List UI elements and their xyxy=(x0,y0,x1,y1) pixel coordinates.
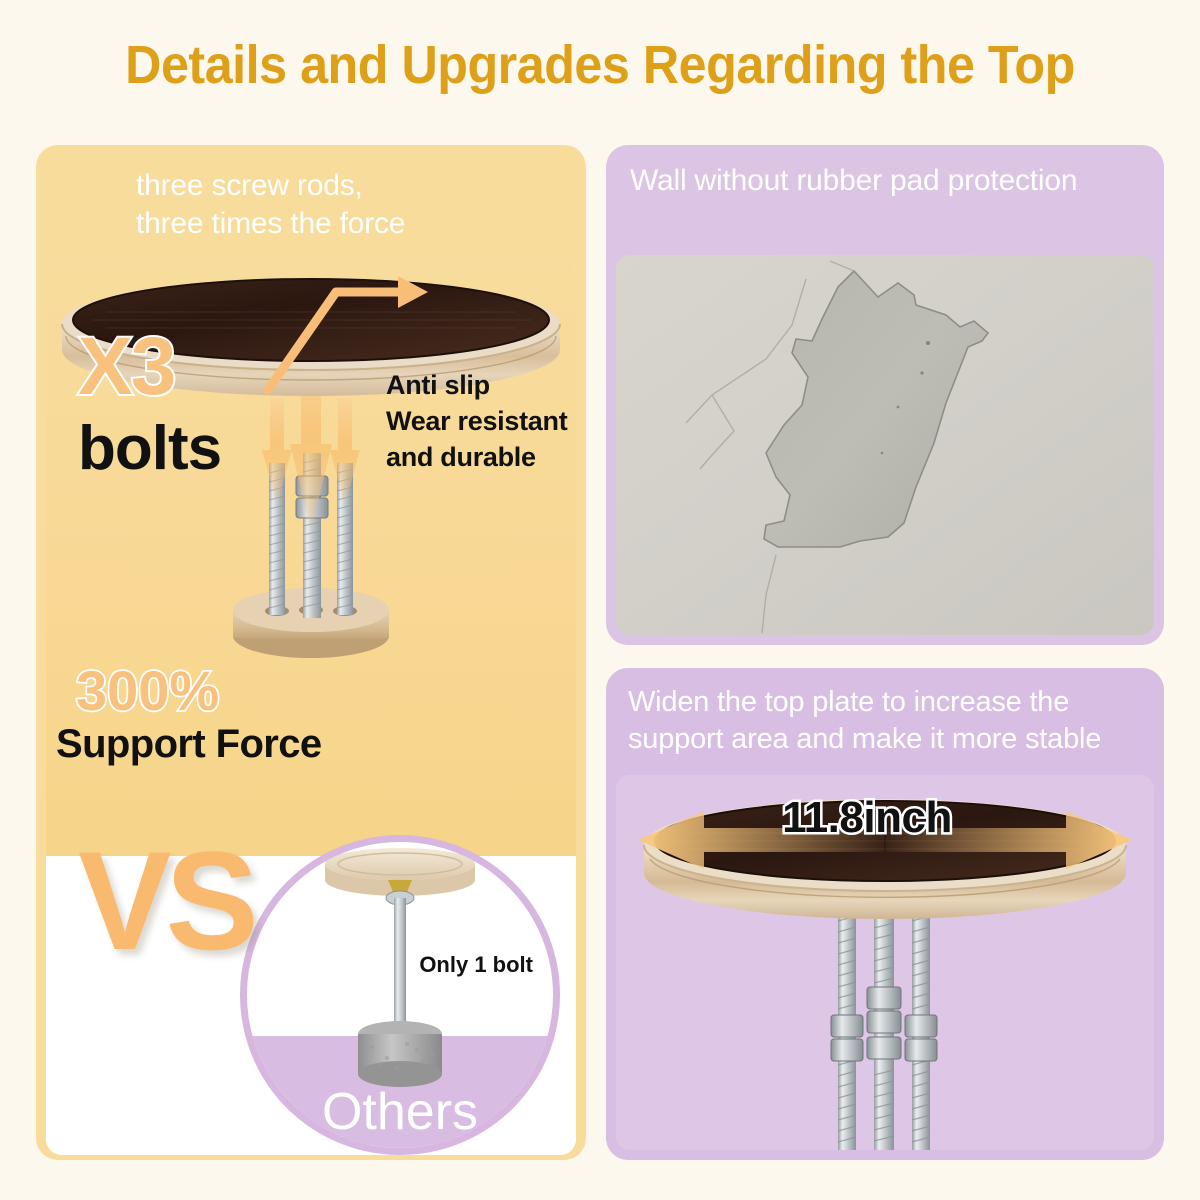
measurement-label: 11.8inch xyxy=(616,793,1118,843)
multiplier-noun-bolts: bolts xyxy=(78,413,221,484)
photo-wall-damage xyxy=(616,255,1154,635)
callout-anti-slip: Anti slip Wear resistant and durable xyxy=(386,368,567,476)
others-comparison-circle: Only 1 bolt Others xyxy=(240,835,560,1155)
force-percent: 300% xyxy=(76,658,219,723)
force-label: Support Force xyxy=(56,722,322,767)
page-title: Details and Upgrades Regarding the Top xyxy=(42,34,1158,96)
others-label: Others xyxy=(247,1082,553,1142)
only-one-bolt-note: Only 1 bolt xyxy=(419,952,533,978)
panel-wall-caption: Wall without rubber pad protection xyxy=(606,145,1164,200)
multiplier-x3: X3 xyxy=(78,320,174,414)
versus-mark: VS xyxy=(78,820,253,982)
panel-screws-caption: three screw rods, three times the force xyxy=(36,145,586,244)
panel-widen-caption: Widen the top plate to increase the supp… xyxy=(606,668,1164,758)
wall-damage-image xyxy=(616,255,1154,635)
photo-widen-top-plate: 11.8inch xyxy=(616,775,1154,1150)
